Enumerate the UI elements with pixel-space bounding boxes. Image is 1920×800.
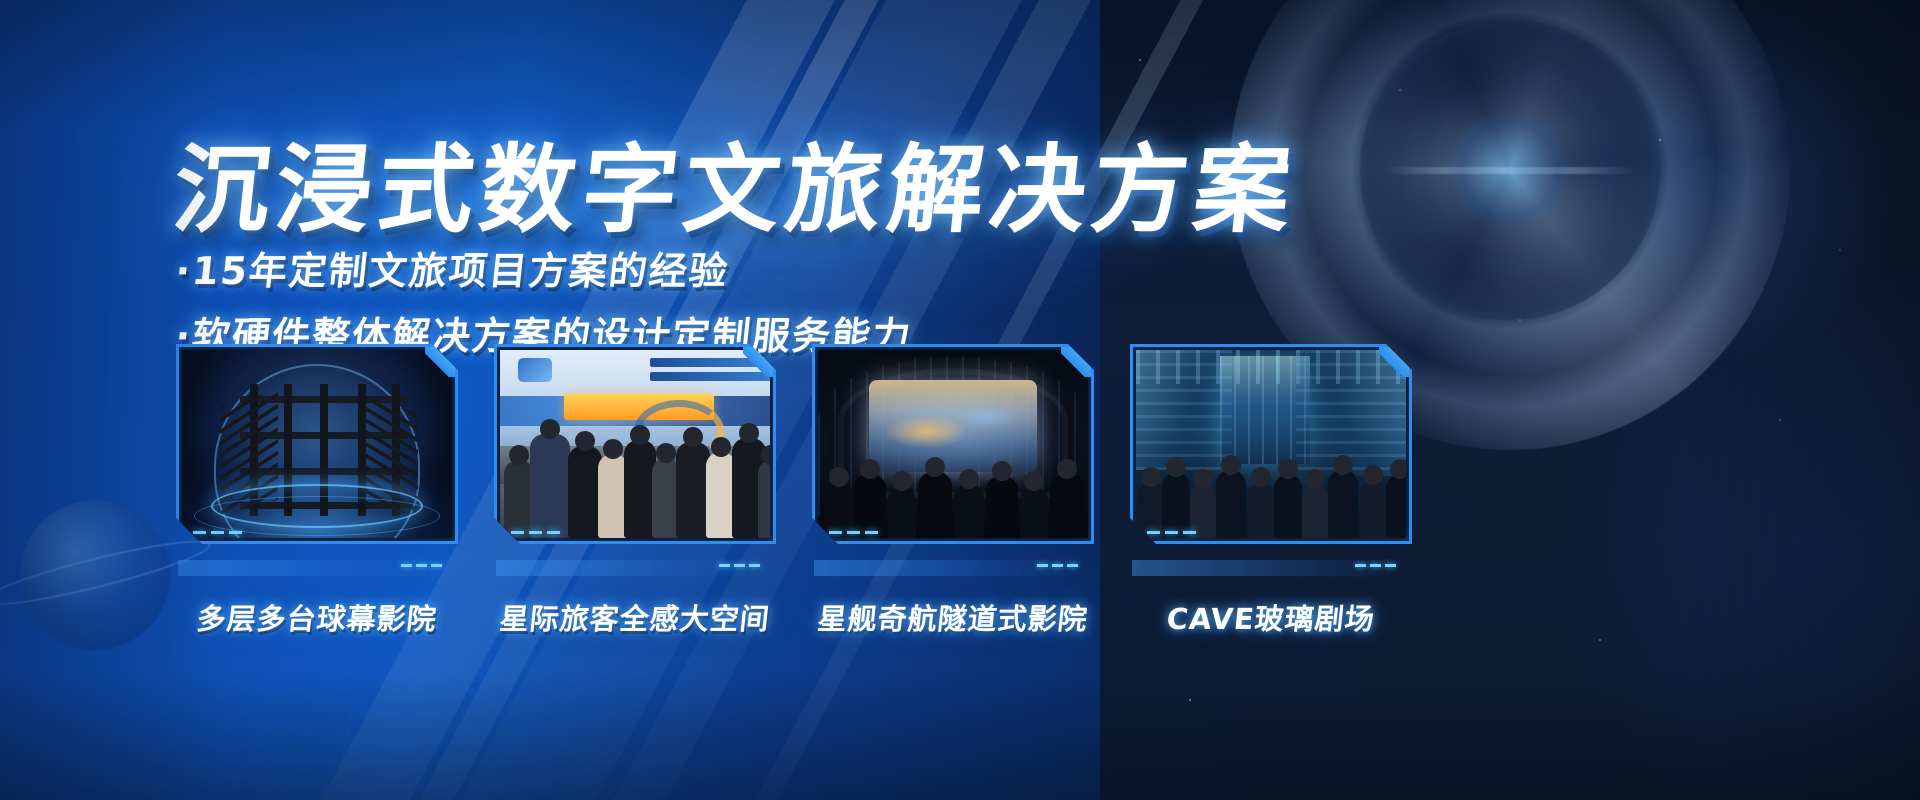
caption-ticks-icon [1355,564,1396,567]
person [1216,470,1246,538]
person [1050,474,1084,538]
card-frame [494,344,776,544]
person [1020,486,1048,538]
person [1386,474,1406,538]
caption-plate [172,560,464,596]
caption-ticks-icon [401,564,442,567]
card-thumbnail-cave-theater [1136,350,1406,538]
person [1190,484,1216,538]
person [1248,482,1274,538]
subtitle-line-1: ·15年定制文旅项目方案的经验 [173,240,915,295]
person [758,460,770,538]
caption-bar [496,560,766,576]
caption-plate [1126,560,1418,596]
caption-ticks-icon [1037,564,1078,567]
edge-ticks-icon [511,531,560,534]
caption-plate [808,560,1100,596]
card-thumbnail-expo-crowd [500,350,770,538]
promotional-banner: 沉浸式数字文旅解决方案 ·15年定制文旅项目方案的经验 ·软硬件整体解决方案的设… [0,0,1920,800]
corner-accent-icon [1379,347,1409,377]
caption-ticks-icon [719,564,760,567]
person [888,486,916,538]
showcase-card[interactable]: 星际旅客全感大空间 [494,344,776,544]
person [1274,474,1302,538]
card-caption: CAVE玻璃剧场 [1128,596,1414,638]
showcase-card[interactable]: CAVE玻璃剧场 [1130,344,1412,544]
audience-silhouettes [1136,440,1406,538]
person [530,434,570,538]
person [1360,480,1386,538]
card-frame [1130,344,1412,544]
banner-content: 沉浸式数字文旅解决方案 ·15年定制文旅项目方案的经验 ·软硬件整体解决方案的设… [0,0,1920,800]
edge-ticks-icon [193,531,242,534]
card-caption: 星际旅客全感大空间 [492,596,778,638]
caption-bar [1132,560,1402,576]
person [824,482,854,538]
corner-accent-icon [1061,347,1091,377]
showcase-card-list: 多层多台球幕影院 [176,344,1496,604]
person [1328,470,1358,538]
booth-logo [518,358,552,382]
card-frame [812,344,1094,544]
person [676,442,710,538]
caption-bar [178,560,448,576]
page-title: 沉浸式数字文旅解决方案 [168,112,1305,251]
person [954,484,984,538]
card-frame [176,344,458,544]
corner-accent-icon [425,347,455,377]
person [1138,482,1164,538]
corner-accent-icon [743,347,773,377]
caption-bar [814,560,1084,576]
card-thumbnail-dome-cinema [182,350,452,538]
caption-plate [490,560,782,596]
person [854,474,886,538]
showcase-card[interactable]: 星舰奇航隧道式影院 [812,344,1094,544]
person [918,472,952,538]
floor-ring-outer [194,496,440,536]
person [986,476,1018,538]
edge-ticks-icon [1147,531,1196,534]
card-caption: 星舰奇航隧道式影院 [810,596,1096,638]
crowd-silhouettes [500,398,770,538]
edge-ticks-icon [829,531,878,534]
card-caption: 多层多台球幕影院 [174,596,460,638]
person [1162,472,1190,538]
showcase-card[interactable]: 多层多台球幕影院 [176,344,458,544]
person [1302,484,1328,538]
person [568,446,602,538]
card-thumbnail-tunnel-cinema [818,350,1088,538]
audience-silhouettes [818,446,1088,538]
